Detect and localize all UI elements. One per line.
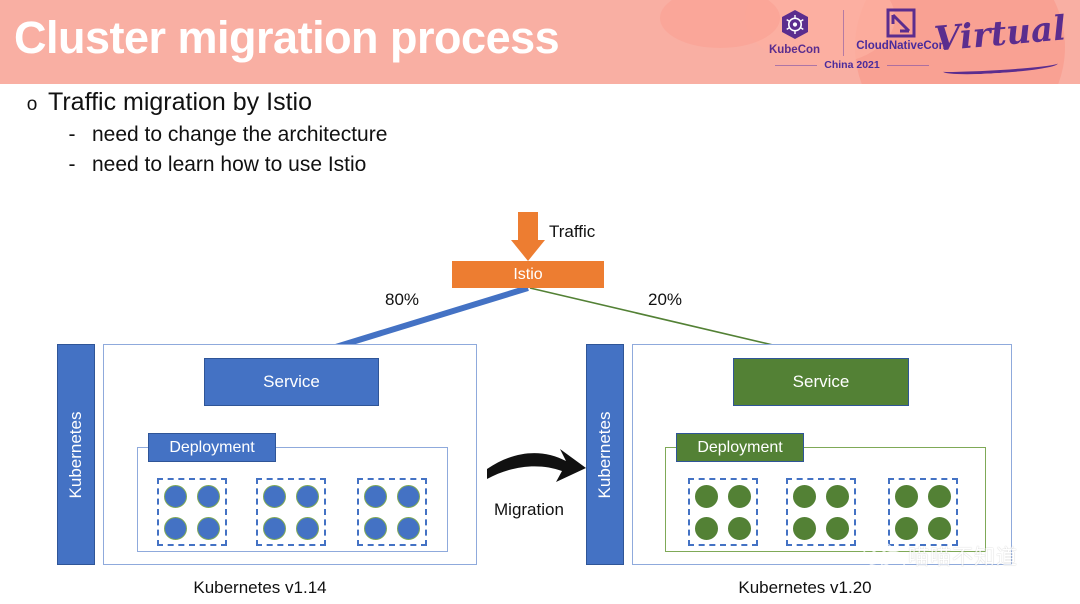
- cluster-version-left: Kubernetes v1.14: [115, 578, 405, 598]
- pod-icon: [397, 485, 420, 508]
- pod-group-right-1: [688, 478, 758, 546]
- pod-icon: [397, 517, 420, 540]
- kubernetes-sidebar-left: Kubernetes: [57, 344, 95, 565]
- pod-icon: [728, 517, 751, 540]
- pod-icon: [263, 485, 286, 508]
- pod-icon: [364, 485, 387, 508]
- deployment-label-box-right[interactable]: Deployment: [676, 433, 804, 462]
- pod-group-left-1: [157, 478, 227, 546]
- pod-icon: [197, 485, 220, 508]
- pod-icon: [296, 485, 319, 508]
- istio-label: Istio: [513, 266, 542, 284]
- pod-icon: [895, 485, 918, 508]
- service-box-right[interactable]: Service: [733, 358, 909, 406]
- pod-group-left-3: [357, 478, 427, 546]
- deployment-label-left: Deployment: [169, 439, 254, 457]
- kubernetes-sidebar-right: Kubernetes: [586, 344, 624, 565]
- pod-group-left-2: [256, 478, 326, 546]
- pod-group-right-2: [786, 478, 856, 546]
- slide-canvas: Cluster migration process: [0, 0, 1080, 604]
- pod-icon: [197, 517, 220, 540]
- traffic-label: Traffic: [549, 222, 595, 242]
- pod-icon: [826, 485, 849, 508]
- pod-icon: [296, 517, 319, 540]
- deployment-label-box-left[interactable]: Deployment: [148, 433, 276, 462]
- migration-label: Migration: [494, 500, 564, 520]
- pod-icon: [793, 517, 816, 540]
- traffic-percent-right: 20%: [648, 290, 682, 310]
- pod-icon: [164, 485, 187, 508]
- pod-icon: [364, 517, 387, 540]
- traffic-arrow-icon: [511, 212, 545, 261]
- pod-icon: [928, 485, 951, 508]
- service-label-right: Service: [793, 372, 850, 392]
- pod-group-right-3: [888, 478, 958, 546]
- kubernetes-sidebar-label-left: Kubernetes: [66, 411, 86, 498]
- cluster-version-right: Kubernetes v1.20: [660, 578, 950, 598]
- pod-icon: [695, 485, 718, 508]
- service-box-left[interactable]: Service: [204, 358, 379, 406]
- pod-icon: [928, 517, 951, 540]
- kubernetes-sidebar-label-right: Kubernetes: [595, 411, 615, 498]
- istio-box[interactable]: Istio: [452, 261, 604, 288]
- migration-arrow-icon: [487, 449, 586, 482]
- pod-icon: [793, 485, 816, 508]
- deployment-label-right: Deployment: [697, 439, 782, 457]
- pod-icon: [263, 517, 286, 540]
- pod-icon: [728, 485, 751, 508]
- pod-icon: [164, 517, 187, 540]
- service-label-left: Service: [263, 372, 320, 392]
- pod-icon: [895, 517, 918, 540]
- pod-icon: [695, 517, 718, 540]
- traffic-percent-left: 80%: [385, 290, 419, 310]
- pod-icon: [826, 517, 849, 540]
